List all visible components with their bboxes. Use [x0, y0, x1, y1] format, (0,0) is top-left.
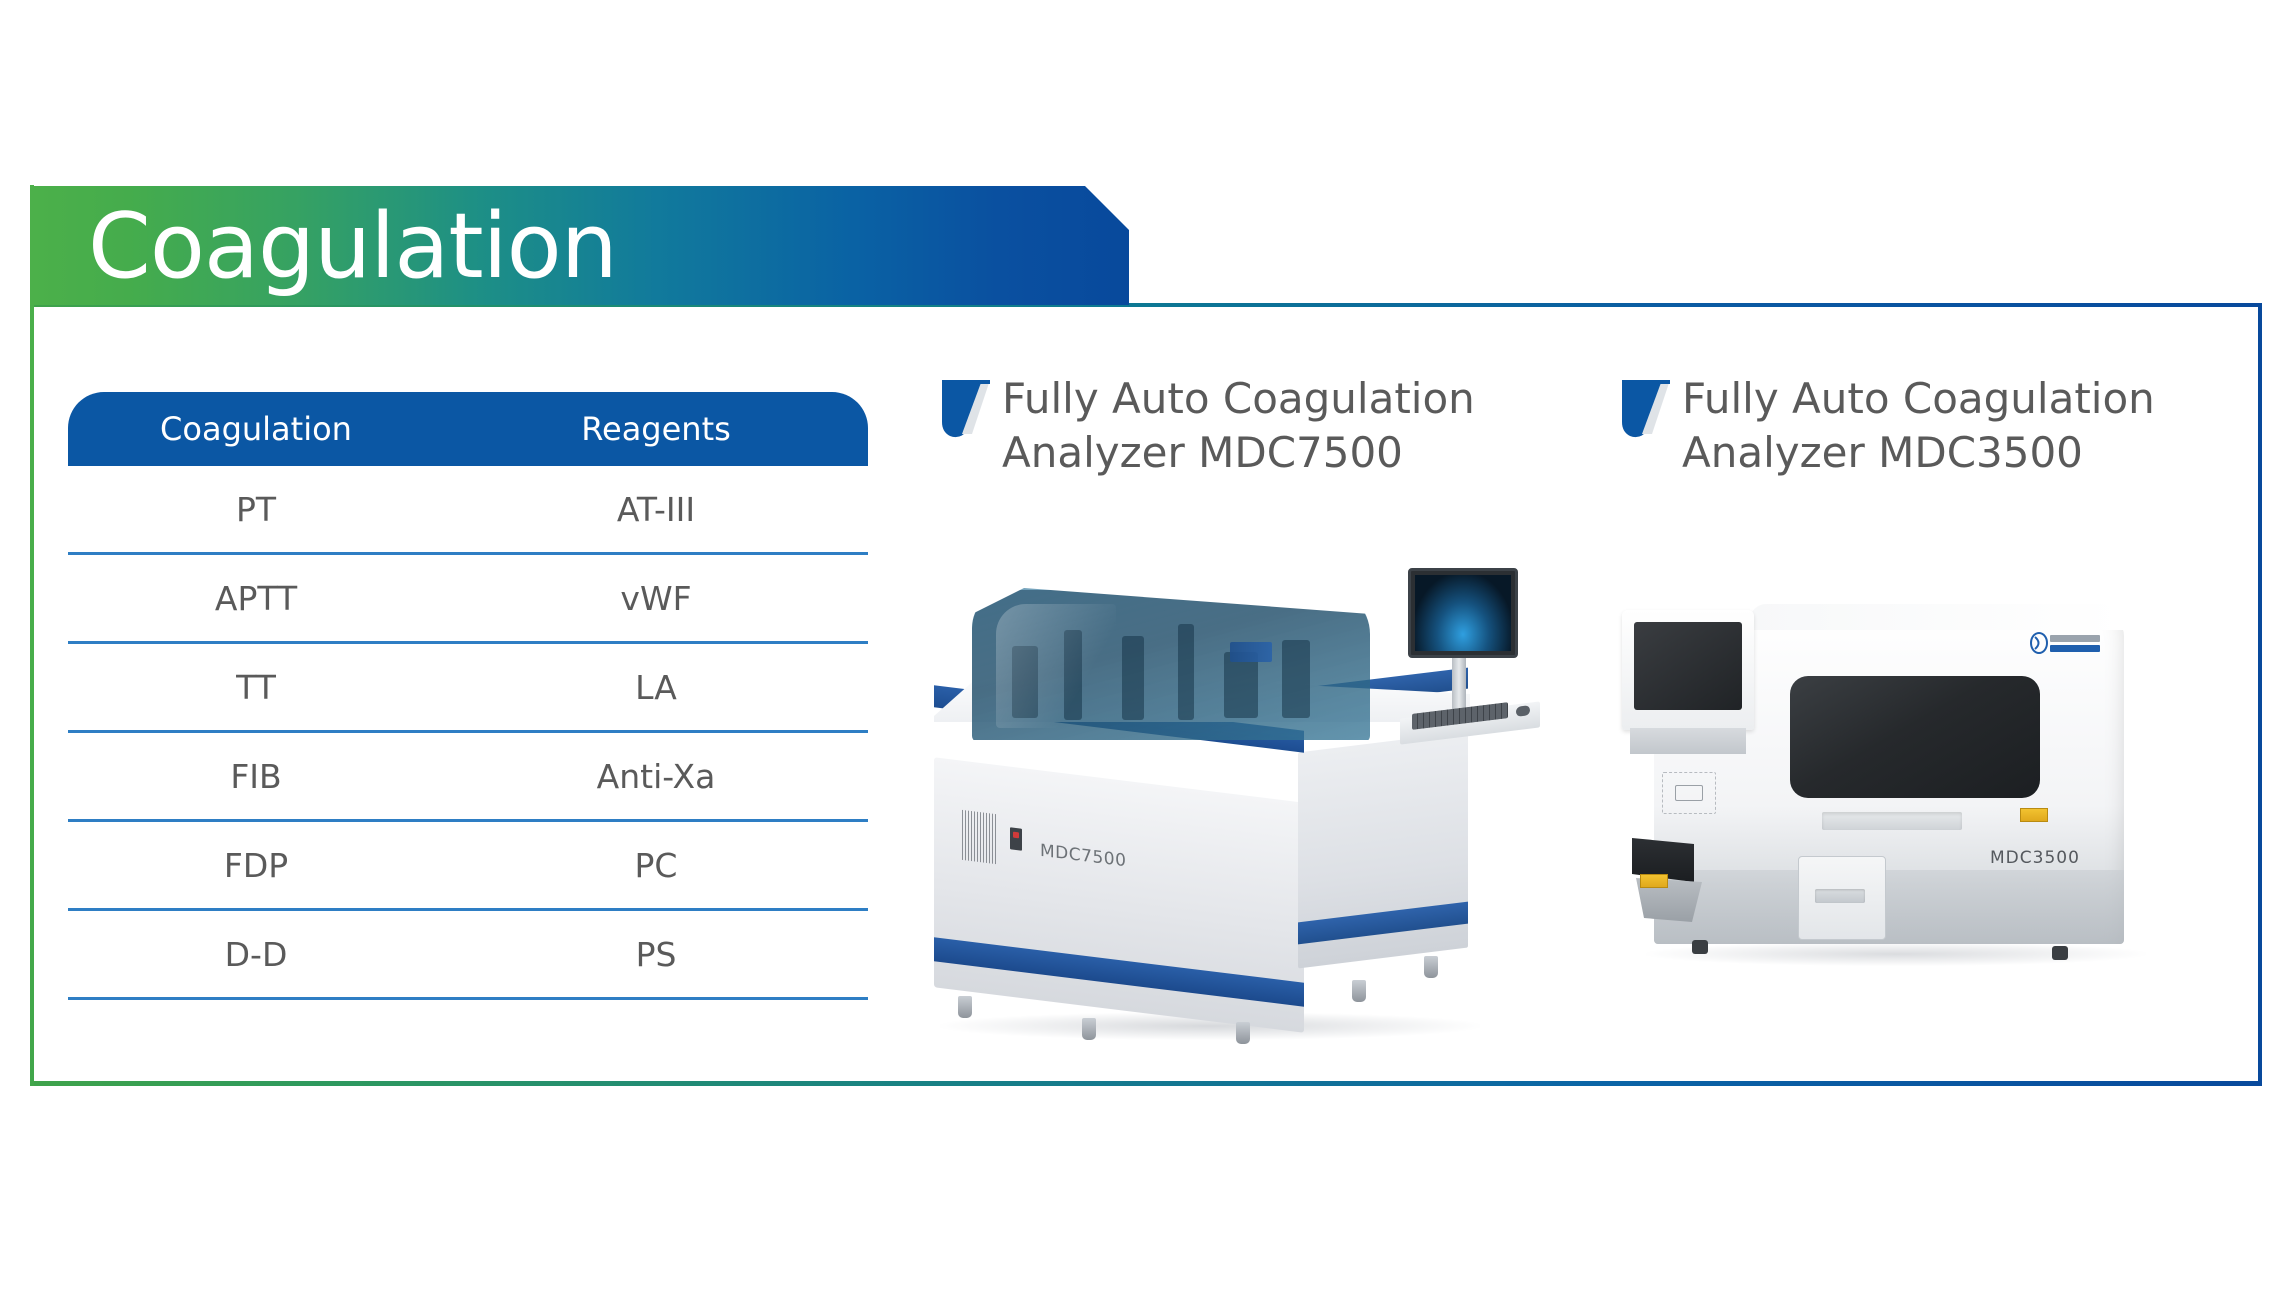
caster-foot [1352, 980, 1366, 1002]
flag-bullet-icon [1618, 378, 1670, 440]
product-card-mdc3500: Fully Auto Coagulation Analyzer MDC3500 [1618, 372, 2258, 480]
card-border-bottom [30, 1081, 2262, 1086]
section-banner: Coagulation [30, 186, 1129, 305]
model-label: MDC3500 [1990, 848, 2080, 868]
caster-foot [1082, 1018, 1096, 1040]
hood-internal-module [1178, 624, 1194, 720]
caster-foot [1236, 1022, 1250, 1044]
cell-reagent: Anti-Xa [444, 757, 868, 796]
reaction-chamber-window [1790, 676, 2040, 798]
brand-logo-bsbe [1230, 642, 1272, 662]
image-shadow [1646, 942, 2146, 966]
card-border-right [2258, 303, 2262, 1086]
column-header-reagents: Reagents [444, 410, 868, 448]
product-image-mdc3500: MDC3500 [1600, 590, 2220, 1060]
product-heading: Fully Auto Coagulation Analyzer MDC3500 [1618, 372, 2258, 480]
caster-foot [958, 996, 972, 1018]
product-title: Fully Auto Coagulation Analyzer MDC7500 [1002, 372, 1558, 480]
cell-coagulation: FIB [68, 757, 444, 796]
panel-support [1630, 728, 1746, 754]
cell-reagent: AT-III [444, 490, 868, 529]
cabinet-barcode-label [962, 810, 996, 864]
hood-internal-module [1122, 636, 1144, 720]
table-header-row: Coagulation Reagents [68, 392, 868, 466]
flag-bullet-icon [938, 378, 990, 440]
table-row: FDP PC [68, 822, 868, 911]
product-image-mdc7500: MDC7500 [900, 560, 1580, 1060]
rfid-reader-icon [1662, 772, 1716, 814]
support-foot [2052, 946, 2068, 960]
analyzer-lower-band [1654, 870, 2124, 944]
cell-coagulation: TT [68, 668, 444, 707]
monitor-arm [1452, 658, 1466, 714]
touchscreen-display[interactable] [1634, 622, 1742, 710]
table-row: APTT vWF [68, 555, 868, 644]
hood-internal-module [1282, 640, 1310, 718]
cell-coagulation: PT [68, 490, 444, 529]
cell-reagent: PC [444, 846, 868, 885]
product-title: Fully Auto Coagulation Analyzer MDC3500 [1682, 372, 2258, 480]
touchscreen-panel[interactable] [1622, 610, 1754, 730]
table-row: TT LA [68, 644, 868, 733]
cell-reagent: LA [444, 668, 868, 707]
caster-foot [1424, 956, 1438, 978]
cell-coagulation: APTT [68, 579, 444, 618]
product-card-mdc7500: Fully Auto Coagulation Analyzer MDC7500 [938, 372, 1558, 480]
page-title: Coagulation [88, 192, 617, 302]
table-row: PT AT-III [68, 466, 868, 555]
support-foot [1692, 940, 1708, 954]
table-row: FIB Anti-Xa [68, 733, 868, 822]
waste-drawer[interactable] [1798, 856, 1886, 940]
coagulation-reagents-table: Coagulation Reagents PT AT-III APTT vWF … [68, 392, 868, 1000]
analyzer-housing-top [1750, 604, 2124, 630]
cell-coagulation: D-D [68, 935, 444, 974]
cell-reagent: PS [444, 935, 868, 974]
cuvette-loading-slot [1822, 812, 1962, 830]
cell-coagulation: FDP [68, 846, 444, 885]
hood-glare [996, 604, 1116, 728]
product-heading: Fully Auto Coagulation Analyzer MDC7500 [938, 372, 1558, 480]
monitor-screen [1415, 575, 1511, 651]
warning-label [1640, 874, 1668, 888]
card-border-left [30, 185, 34, 1086]
warning-label [2020, 808, 2048, 822]
table-row: D-D PS [68, 911, 868, 1000]
cell-reagent: vWF [444, 579, 868, 618]
brand-logo-bsbe [2030, 632, 2102, 654]
operator-monitor [1408, 568, 1518, 658]
column-header-coagulation: Coagulation [68, 410, 444, 448]
power-button[interactable] [1010, 827, 1022, 850]
